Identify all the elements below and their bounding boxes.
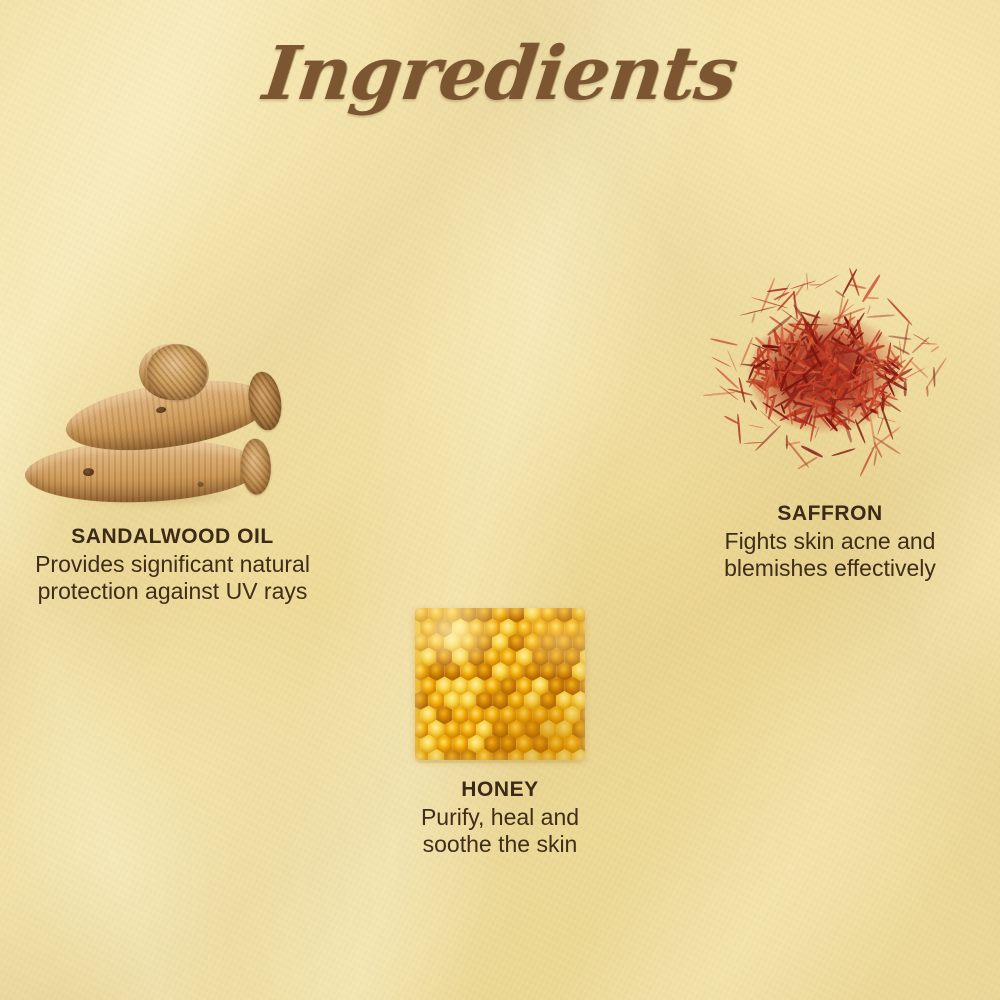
saffron-caption: SAFFRON Fights skin acne and blemishes e… <box>660 501 1000 582</box>
saffron-thread-stray <box>726 349 736 371</box>
page-title: Ingredients <box>0 36 1000 114</box>
saffron-thread-stray <box>710 338 738 346</box>
ingredient-description-line: Fights skin acne and <box>660 528 1000 555</box>
honeycomb-edge <box>415 608 585 763</box>
saffron-thread-stray <box>749 400 757 411</box>
saffron-thread-stray <box>801 445 824 458</box>
saffron-thread-stray <box>872 450 877 466</box>
saffron-thread-stray <box>748 425 764 430</box>
saffron-thread-stray <box>933 367 936 387</box>
ingredient-name-sandalwood: SANDALWOOD OIL <box>0 524 345 549</box>
saffron-thread-stray <box>930 345 939 353</box>
saffron-thread-stray <box>866 314 895 318</box>
saffron-thread-stray <box>806 272 809 290</box>
saffron-threads-image <box>715 270 945 485</box>
saffron-thread-stray <box>710 357 730 368</box>
saffron-thread-stray <box>867 305 871 315</box>
log-knot <box>82 468 93 476</box>
saffron-thread-stray <box>739 306 776 316</box>
ingredient-card-saffron: SAFFRON Fights skin acne and blemishes e… <box>660 270 1000 582</box>
saffron-thread-stray <box>886 298 913 327</box>
ingredients-infographic: Ingredients SANDALWOOD OIL Provides <box>0 0 1000 1000</box>
saffron-thread-stray <box>738 377 746 403</box>
ingredient-name-saffron: SAFFRON <box>660 501 1000 526</box>
sandalwood-log-top <box>137 342 210 402</box>
saffron-thread-stray <box>751 313 756 324</box>
saffron-pile <box>715 270 945 485</box>
ingredient-description-line: soothe the skin <box>330 831 670 858</box>
log-knot <box>197 482 203 487</box>
ingredient-card-honey: HONEY Purify, heal and soothe the skin <box>330 608 670 858</box>
log-end-cap <box>239 438 271 495</box>
saffron-thread-stray <box>787 440 810 468</box>
saffron-thread-stray <box>809 284 822 285</box>
honeycomb-image <box>415 608 585 763</box>
saffron-thread-stray <box>865 296 878 298</box>
ingredient-card-sandalwood: SANDALWOOD OIL Provides significant natu… <box>0 340 345 605</box>
saffron-thread-stray <box>737 414 741 444</box>
ingredient-description-line: Provides significant natural <box>0 551 345 578</box>
saffron-thread-stray <box>925 356 948 389</box>
sandalwood-caption: SANDALWOOD OIL Provides significant natu… <box>0 524 345 605</box>
saffron-thread-stray <box>754 425 781 452</box>
honey-caption: HONEY Purify, heal and soothe the skin <box>330 777 670 858</box>
saffron-thread-stray <box>904 380 907 396</box>
saffron-thread-stray <box>831 448 855 457</box>
ingredient-description-line: blemishes effectively <box>660 555 1000 582</box>
ingredient-name-honey: HONEY <box>330 777 670 802</box>
saffron-thread-stray <box>815 274 840 289</box>
saffron-thread-stray <box>926 385 929 396</box>
ingredient-description-line: Purify, heal and <box>330 804 670 831</box>
ingredient-description-line: protection against UV rays <box>0 578 345 605</box>
sandalwood-logs-image <box>23 340 323 512</box>
